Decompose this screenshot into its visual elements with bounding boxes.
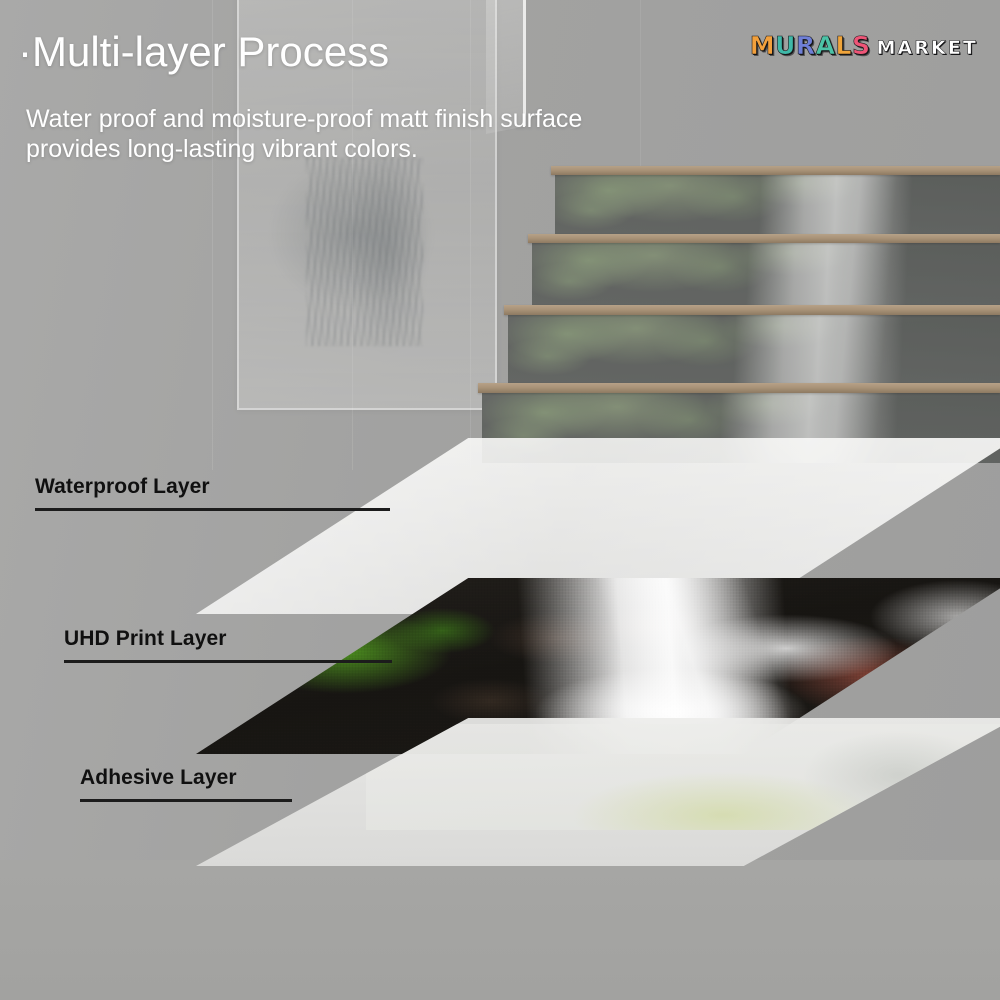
stair-riser-1 [555,172,1000,234]
riser-mural-image [508,313,1000,383]
title-bullet: · [18,28,32,75]
brand-logo-market: MARKET [876,37,978,59]
brand-logo[interactable]: MURALS MARKET [750,32,978,60]
stair-tread-2 [528,234,1000,243]
brand-logo-letter-a: A [816,32,836,60]
brand-logo-letter-s: S [852,32,871,60]
page-title-text: Multi-layer Process [32,28,389,75]
brand-logo-letter-l: L [836,32,852,60]
page-title: ·Multi-layer Process [18,26,389,78]
brand-logo-letter-m: M [750,32,775,60]
layer-label-adhesive-text: Adhesive Layer [80,765,292,791]
page-subtitle: Water proof and moisture-proof matt fini… [26,104,582,164]
brand-logo-letter-u: U [775,32,796,60]
floor-surface [0,860,1000,1000]
layer-label-uhd-print-text: UHD Print Layer [64,626,392,652]
layer-label-uhd-print: UHD Print Layer [64,626,392,663]
riser-mural-image [555,172,1000,234]
layer-label-waterproof-text: Waterproof Layer [35,474,390,500]
brand-logo-letter-r: R [796,32,816,60]
layer-label-underline [80,799,292,802]
infographic-canvas: Waterproof Layer UHD Print Layer Adhesiv… [0,0,1000,1000]
page-subtitle-line-1: Water proof and moisture-proof matt fini… [26,104,582,134]
stair-riser-3 [508,313,1000,383]
layer-label-underline [35,508,390,511]
layer-label-waterproof: Waterproof Layer [35,474,390,511]
layer-label-underline [64,660,392,663]
brand-logo-murals: MURALS [750,32,871,60]
page-subtitle-line-2: provides long-lasting vibrant colors. [26,134,582,164]
layer-label-adhesive: Adhesive Layer [80,765,292,802]
stair-riser-2 [532,241,1000,306]
stair-tread-3 [504,305,1000,315]
riser-mural-image [532,241,1000,306]
stair-tread-1 [551,166,1000,175]
stair-tread-4 [478,383,1000,393]
